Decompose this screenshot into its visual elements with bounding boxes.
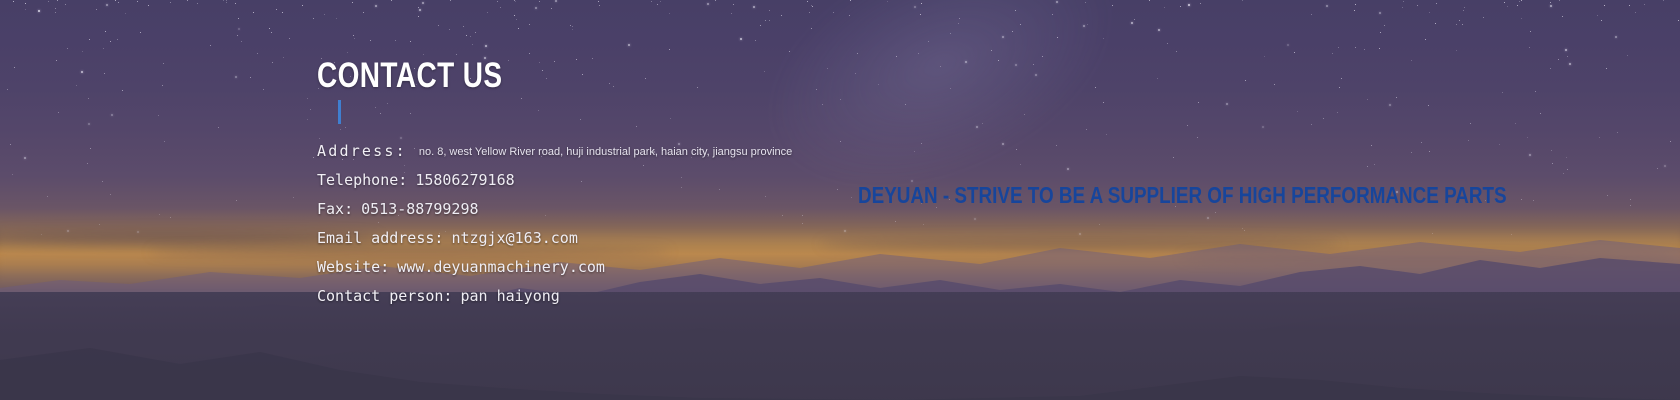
- company-tagline: DEYUAN - STRIVE TO BE A SUPPLIER OF HIGH…: [858, 184, 1507, 207]
- contact-label: Telephone:: [317, 171, 407, 189]
- contact-row: Fax:0513-88799298: [317, 200, 792, 229]
- contact-label: Email address:: [317, 229, 443, 247]
- contact-row: Contact person:pan haiyong: [317, 287, 792, 316]
- contact-label: Website:: [317, 258, 389, 276]
- contact-row: Address:no. 8, west Yellow River road, h…: [317, 142, 792, 171]
- page-title: CONTACT US: [317, 58, 502, 93]
- contact-value: 0513-88799298: [361, 200, 478, 218]
- contact-row: Email address:ntzgjx@163.com: [317, 229, 792, 258]
- contact-label: Contact person:: [317, 287, 452, 305]
- contact-value[interactable]: ntzgjx@163.com: [451, 229, 577, 247]
- contact-value[interactable]: www.deyuanmachinery.com: [397, 258, 605, 276]
- contact-value: 15806279168: [415, 171, 514, 189]
- contact-row: Website:www.deyuanmachinery.com: [317, 258, 792, 287]
- contact-value: no. 8, west Yellow River road, huji indu…: [419, 146, 792, 158]
- title-accent-bar: [338, 100, 341, 124]
- contact-row: Telephone:15806279168: [317, 171, 792, 200]
- contact-value: pan haiyong: [460, 287, 559, 305]
- contact-label: Address:: [317, 142, 407, 160]
- contact-banner: CONTACT US Address:no. 8, west Yellow Ri…: [0, 0, 1680, 400]
- banner-content: CONTACT US Address:no. 8, west Yellow Ri…: [0, 0, 1680, 400]
- contact-info-list: Address:no. 8, west Yellow River road, h…: [317, 142, 792, 316]
- contact-label: Fax:: [317, 200, 353, 218]
